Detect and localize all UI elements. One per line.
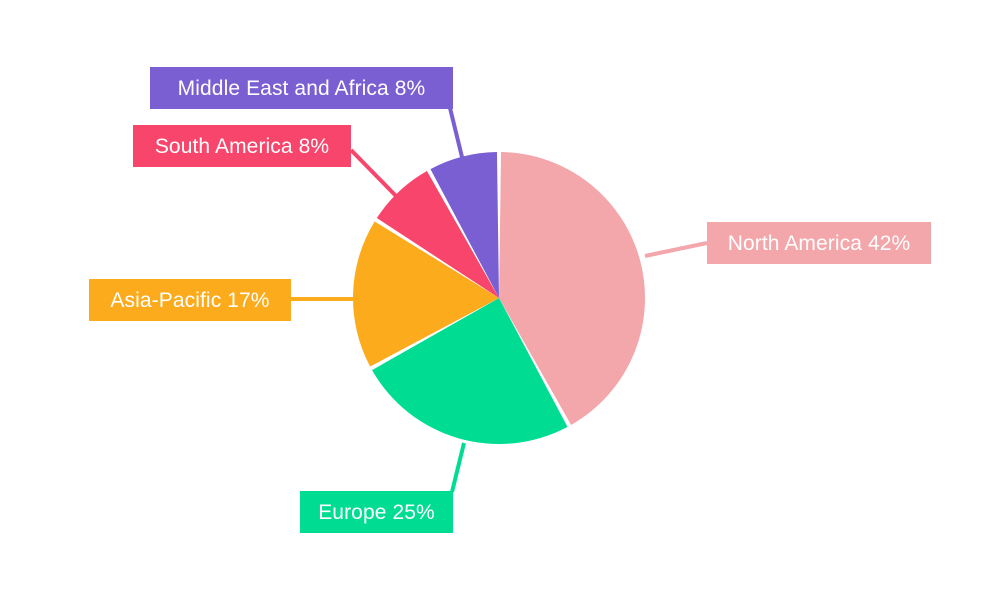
pie-chart-page: North America 42% Europe 25% Asia-Pacifi… bbox=[0, 0, 1000, 600]
pie-label-south-america[interactable]: South America 8% bbox=[133, 125, 351, 167]
pie-label-text-europe: Europe 25% bbox=[318, 502, 435, 523]
pie-label-text-south-america: South America 8% bbox=[155, 136, 329, 157]
pie-slices-group bbox=[353, 152, 645, 444]
pie-label-asia-pacific[interactable]: Asia-Pacific 17% bbox=[89, 279, 291, 321]
pie-label-europe[interactable]: Europe 25% bbox=[300, 491, 453, 533]
pie-label-text-asia-pacific: Asia-Pacific 17% bbox=[110, 290, 269, 311]
leader-line-south-america bbox=[351, 150, 396, 196]
leader-line-middle-east-africa bbox=[450, 108, 462, 157]
pie-label-text-middle-east-africa: Middle East and Africa 8% bbox=[178, 78, 426, 99]
leader-line-europe bbox=[452, 443, 464, 492]
leader-line-north-america bbox=[645, 243, 707, 256]
pie-label-middle-east-africa[interactable]: Middle East and Africa 8% bbox=[150, 67, 453, 109]
pie-label-text-north-america: North America 42% bbox=[728, 233, 911, 254]
pie-label-north-america[interactable]: North America 42% bbox=[707, 222, 931, 264]
